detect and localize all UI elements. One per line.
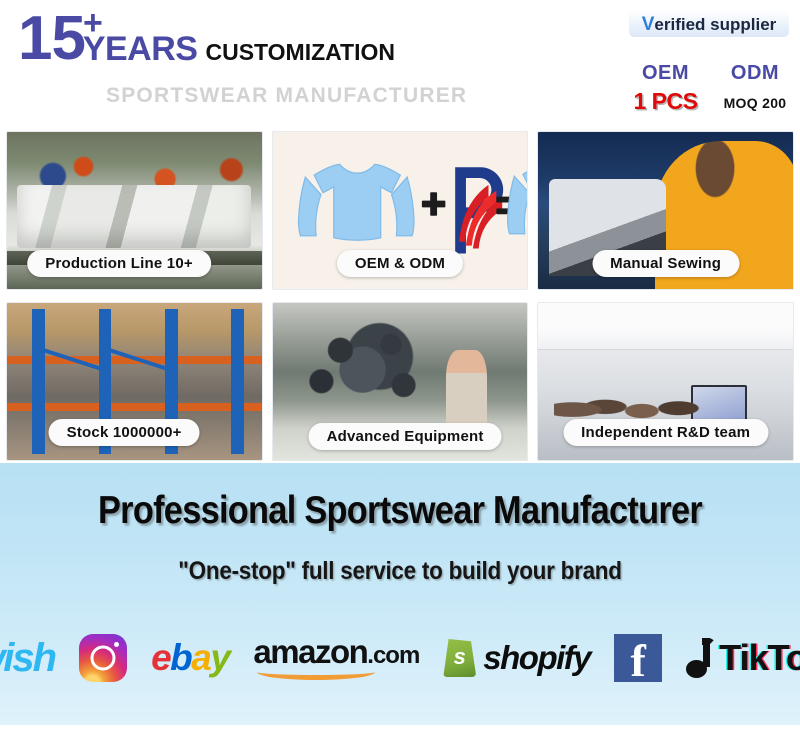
wish-logo-text: wish: [0, 638, 55, 678]
banner-subheadline: "One-stop" full service to build your br…: [40, 557, 760, 586]
brand-headline: 15+YEARSCUSTOMIZATION: [18, 8, 395, 70]
tile-label: Independent R&D team: [563, 419, 768, 446]
tile-label: OEM & ODM: [337, 250, 463, 277]
marketplace-logo-row: wish ebay amazon.com shopify f: [0, 618, 800, 698]
years-word: YEARS: [83, 32, 198, 66]
odm-moq-value: MOQ 200: [710, 90, 800, 116]
ebay-letter-a: a: [191, 637, 210, 678]
customization-word: CUSTOMIZATION: [205, 41, 395, 64]
tile-rd-team[interactable]: Independent R&D team: [537, 302, 794, 461]
oem-title: OEM: [623, 62, 708, 84]
odm-column: ODM MOQ 200: [710, 62, 800, 116]
tiktok-logo-mark: TikTok: [686, 638, 800, 678]
oem-moq-value: 1 PCS: [623, 88, 708, 114]
brand-block: 15+YEARSCUSTOMIZATION SPORTSWEAR MANUFAC…: [18, 8, 478, 108]
banner-headline: Professional Sportswear Manufacturer: [48, 489, 752, 533]
oem-odm-block: OEM 1 PCS ODM MOQ 200: [615, 62, 800, 120]
tile-label: Manual Sewing: [592, 250, 739, 277]
tiktok-logo[interactable]: TikTok: [686, 628, 800, 688]
ebay-letter-b: b: [170, 637, 191, 678]
tile-stock[interactable]: Stock 1000000+: [6, 302, 263, 461]
ebay-logo[interactable]: ebay: [151, 628, 229, 688]
header: 15+YEARSCUSTOMIZATION SPORTSWEAR MANUFAC…: [0, 0, 800, 128]
tiktok-note-ball: [686, 660, 707, 678]
oem-column: OEM 1 PCS: [623, 62, 708, 114]
ebay-letter-y: y: [210, 637, 229, 678]
shopify-logo[interactable]: shopify: [443, 628, 590, 688]
ebay-letter-e: e: [151, 637, 170, 678]
wish-logo[interactable]: wish: [0, 628, 55, 688]
shopify-logo-mark: shopify: [443, 639, 590, 677]
page-footer-strip: [0, 725, 800, 736]
facebook-letter-f: f: [630, 640, 645, 682]
feature-tile-grid: Production Line 10+: [6, 131, 794, 461]
tile-advanced-equipment[interactable]: Advanced Equipment: [272, 302, 529, 461]
bottom-banner: Professional Sportswear Manufacturer "On…: [0, 463, 800, 725]
facebook-icon: f: [614, 634, 662, 682]
instagram-dot: [114, 642, 119, 647]
verified-supplier-label: erified supplier: [654, 15, 776, 34]
amazon-logo[interactable]: amazon.com: [253, 628, 419, 688]
instagram-icon: [79, 634, 127, 682]
tile-manual-sewing[interactable]: Manual Sewing: [537, 131, 794, 290]
ebay-logo-text: ebay: [151, 639, 229, 677]
check-icon: V: [642, 15, 655, 34]
years-number: 15: [18, 8, 85, 70]
tiktok-note-flag: [702, 638, 716, 649]
odm-title: ODM: [710, 62, 800, 84]
tile-production-line[interactable]: Production Line 10+: [6, 131, 263, 290]
amazon-smile-icon: [257, 664, 375, 680]
tile-oem-odm[interactable]: OEM & ODM: [272, 131, 529, 290]
facebook-logo[interactable]: f: [614, 628, 662, 688]
brand-subtitle: SPORTSWEAR MANUFACTURER: [106, 84, 467, 108]
tiktok-logo-text: TikTok: [719, 640, 800, 676]
tile-label: Stock 1000000+: [49, 419, 200, 446]
amazon-logo-mark: amazon.com: [253, 635, 419, 682]
instagram-lens-ring: [91, 646, 116, 671]
tiktok-note-icon: [686, 638, 716, 678]
tile-label: Production Line 10+: [27, 250, 211, 277]
shopify-logo-text: shopify: [483, 641, 590, 675]
verified-supplier-badge: Verified supplier: [629, 11, 789, 37]
amazon-com-suffix: .com: [367, 642, 419, 669]
shopify-bag-icon: [443, 639, 476, 677]
instagram-logo[interactable]: [79, 628, 127, 688]
tile-label: Advanced Equipment: [309, 423, 502, 450]
